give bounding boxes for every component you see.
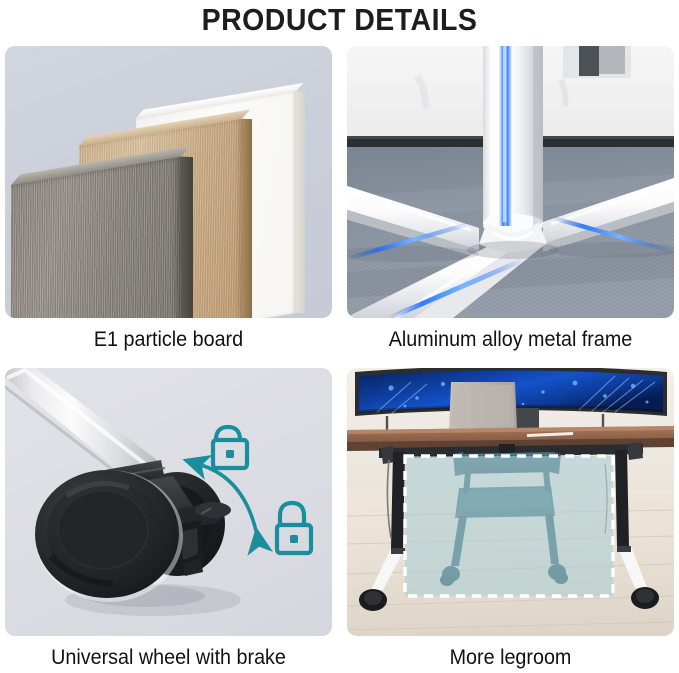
- board-white-side-edge: [296, 91, 305, 313]
- lock-icon: [277, 503, 311, 553]
- panel-more-legroom: More legroom: [347, 368, 674, 636]
- product-details-infographic: PRODUCT DETAILS: [0, 0, 679, 673]
- caption-more-legroom: More legroom: [357, 646, 664, 670]
- caption-aluminum-alloy-metal-frame: Aluminum alloy metal frame: [357, 328, 664, 352]
- caption-universal-wheel-with-brake: Universal wheel with brake: [15, 646, 322, 670]
- e1-particle-board-image: [5, 46, 332, 318]
- legroom-illustration: [347, 368, 674, 636]
- unlock-icon: [213, 427, 247, 468]
- caster-front-wheel: [35, 470, 183, 602]
- panel-aluminum-alloy-metal-frame: Aluminum alloy metal frame: [347, 46, 674, 318]
- universal-wheel-image: [5, 368, 332, 636]
- board-grey: [11, 157, 181, 318]
- frame-center-column: [483, 46, 543, 235]
- panel-grid: E1 particle board: [0, 0, 679, 673]
- aluminum-frame-image: [347, 46, 674, 318]
- panel-universal-wheel-with-brake: Universal wheel with brake: [5, 368, 332, 636]
- laptop: [437, 382, 529, 436]
- board-grey-side-edge: [181, 157, 193, 318]
- board-oak-side-edge: [242, 119, 252, 318]
- more-legroom-image: [347, 368, 674, 636]
- board-grey-face: [11, 157, 181, 318]
- monitor-center-stand: [513, 408, 539, 430]
- panel-e1-particle-board: E1 particle board: [5, 46, 332, 318]
- aluminum-frame-illustration: [347, 46, 674, 318]
- caster-wheel-illustration: [5, 368, 332, 636]
- caption-e1-particle-board: E1 particle board: [15, 328, 322, 352]
- legroom-highlight-region: [405, 456, 613, 596]
